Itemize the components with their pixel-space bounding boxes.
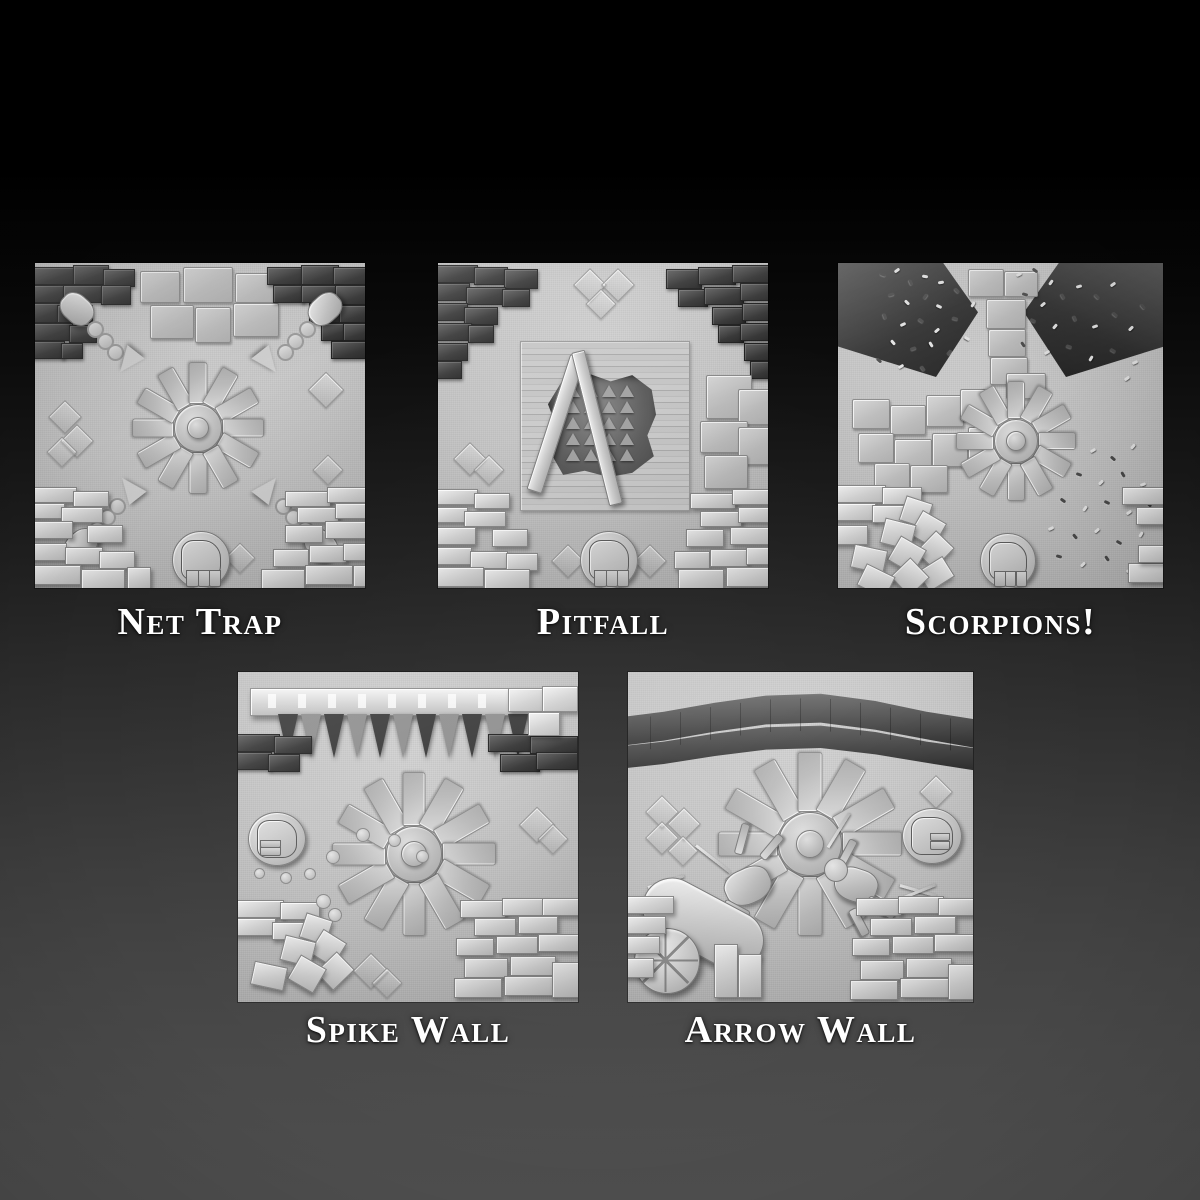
gallery-stage: Net Trap Pitfall Scorpions! Spike Wall A… xyxy=(0,0,1200,1200)
tile-label-arrow-wall: Arrow Wall xyxy=(628,1008,973,1052)
tile-pitfall[interactable] xyxy=(438,263,768,588)
tile-shading xyxy=(238,672,578,1002)
tile-spike-wall[interactable] xyxy=(238,672,578,1002)
tile-label-scorpions: Scorpions! xyxy=(838,600,1163,644)
tile-arrow-wall[interactable] xyxy=(628,672,973,1002)
tile-net-trap[interactable] xyxy=(35,263,365,588)
tile-shading xyxy=(438,263,768,588)
tile-shading xyxy=(838,263,1163,588)
tile-shading xyxy=(628,672,973,1002)
tile-label-pitfall: Pitfall xyxy=(438,600,768,644)
tile-scorpions[interactable] xyxy=(838,263,1163,588)
tile-shading xyxy=(35,263,365,588)
tile-label-net-trap: Net Trap xyxy=(35,600,365,644)
tile-label-spike-wall: Spike Wall xyxy=(238,1008,578,1052)
